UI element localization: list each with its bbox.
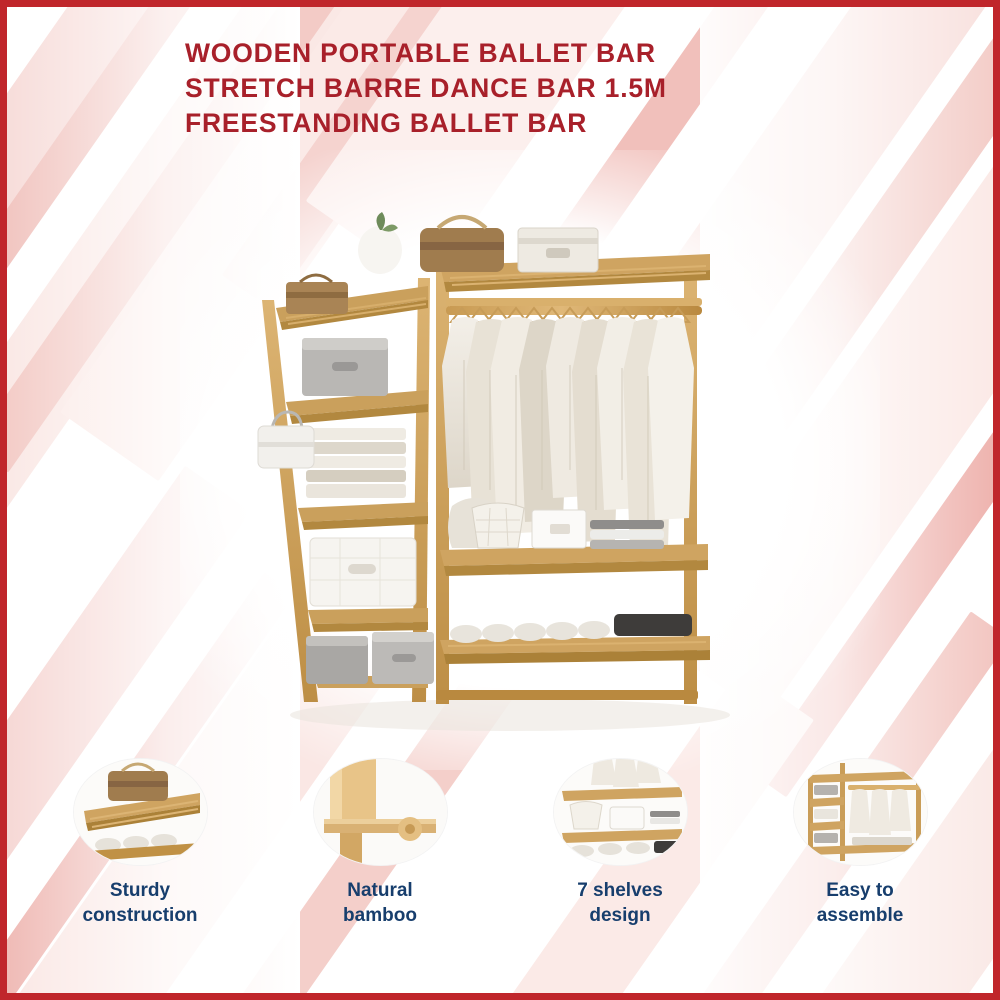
page-title: WOODEN PORTABLE BALLET BAR STRETCH BARRE…	[185, 36, 825, 141]
feature-shelves-design: 7 shelves design	[510, 758, 730, 928]
feature-thumb-shelves-design	[553, 758, 688, 866]
feature-label-line1: Easy to	[817, 878, 904, 903]
title-line-1: WOODEN PORTABLE BALLET BAR	[185, 36, 825, 71]
feature-label-line2: design	[577, 903, 663, 928]
feature-thumb-sturdy-construction	[73, 758, 208, 866]
feature-label-natural-bamboo: Natural bamboo	[343, 878, 417, 928]
feature-list: Sturdy construction Natural bam	[30, 758, 970, 978]
feature-label-line1: Sturdy	[82, 878, 197, 903]
feature-label-line1: 7 shelves	[577, 878, 663, 903]
feature-thumb-natural-bamboo	[313, 758, 448, 866]
feature-label-shelves-design: 7 shelves design	[577, 878, 663, 928]
title-line-2: STRETCH BARRE DANCE BAR 1.5M	[185, 71, 825, 106]
feature-label-line2: assemble	[817, 903, 904, 928]
feature-label-line2: bamboo	[343, 903, 417, 928]
feature-label-line1: Natural	[343, 878, 417, 903]
feature-label-line2: construction	[82, 903, 197, 928]
product-image	[240, 190, 770, 750]
feature-natural-bamboo: Natural bamboo	[270, 758, 490, 928]
feature-thumb-easy-to-assemble	[793, 758, 928, 866]
feature-label-sturdy-construction: Sturdy construction	[82, 878, 197, 928]
product-banner: WOODEN PORTABLE BALLET BAR STRETCH BARRE…	[0, 0, 1000, 1000]
feature-easy-to-assemble: Easy to assemble	[750, 758, 970, 928]
title-line-3: FREESTANDING BALLET BAR	[185, 106, 825, 141]
feature-label-easy-to-assemble: Easy to assemble	[817, 878, 904, 928]
feature-sturdy-construction: Sturdy construction	[30, 758, 250, 928]
